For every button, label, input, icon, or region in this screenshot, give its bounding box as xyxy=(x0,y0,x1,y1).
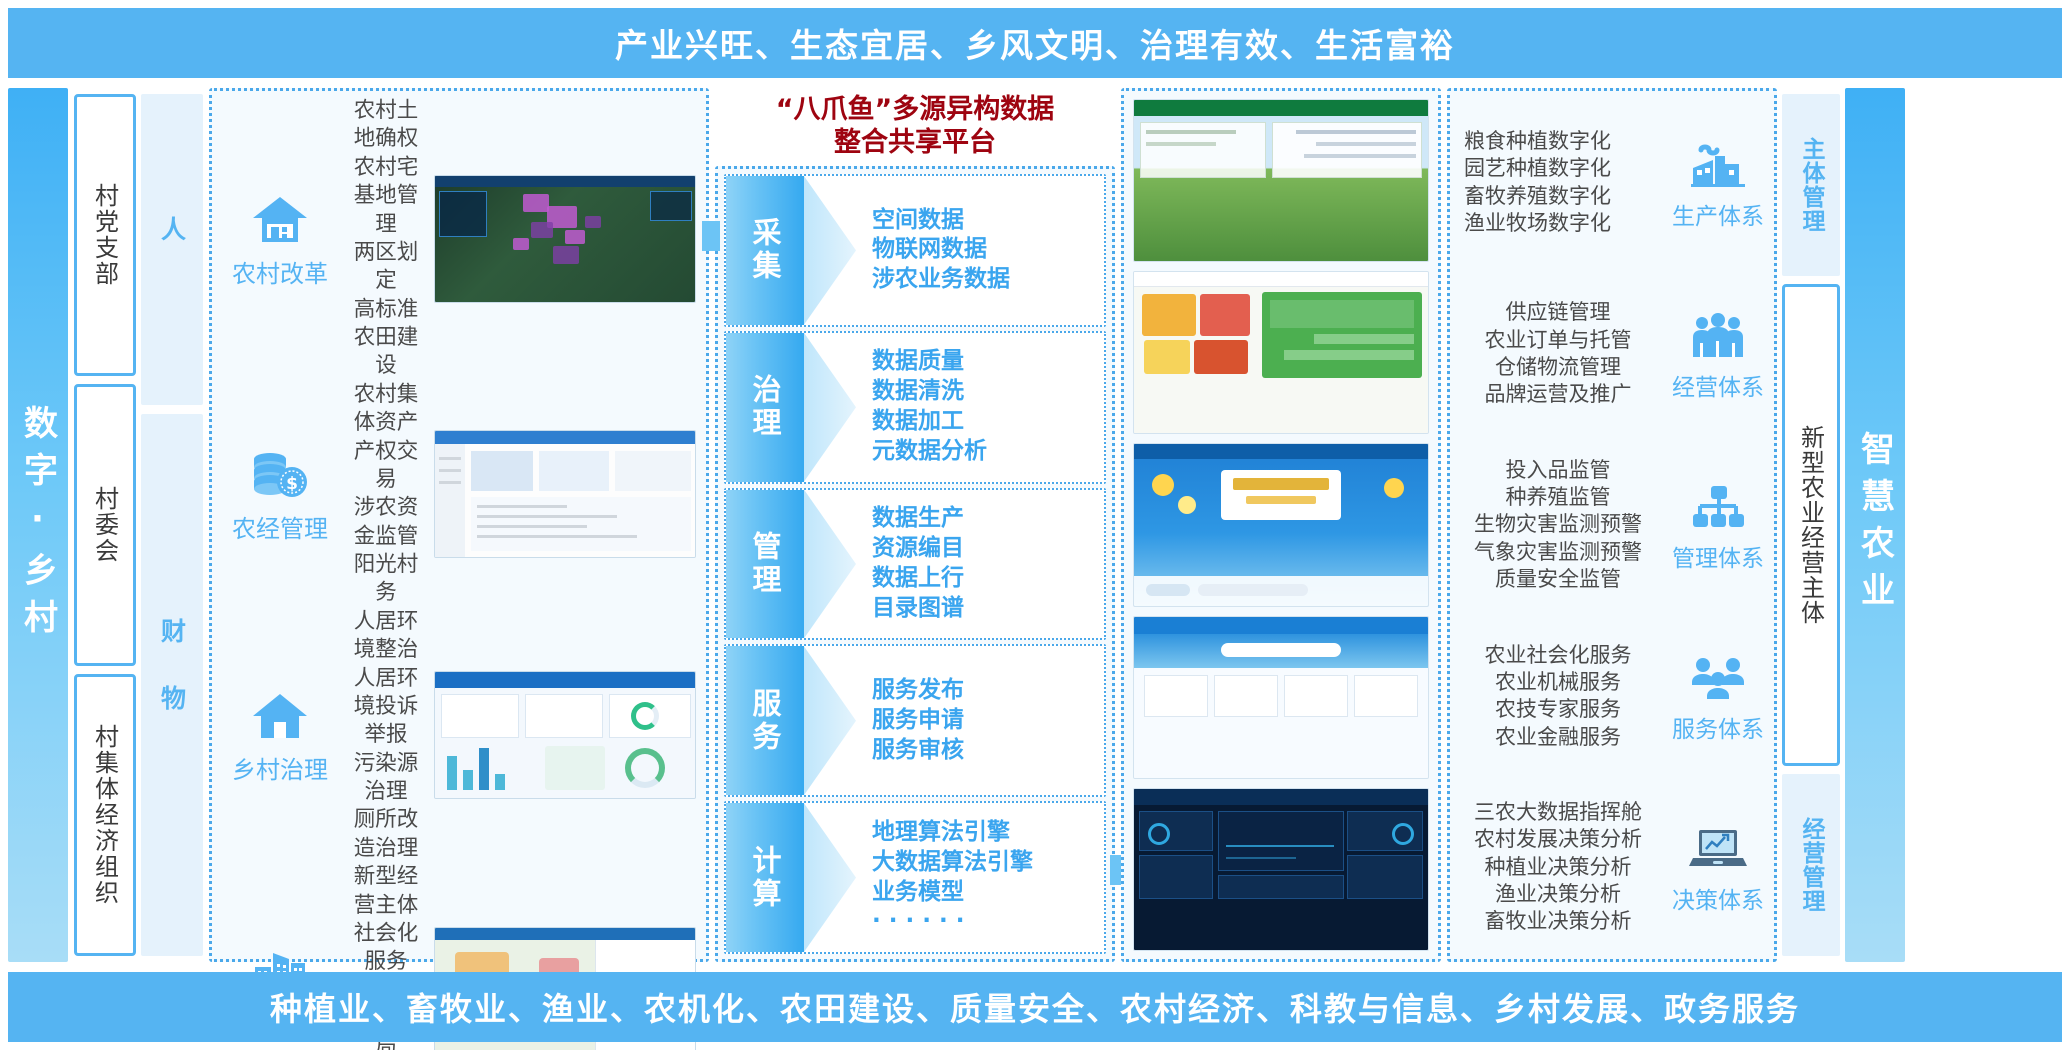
stage-arrow-icon xyxy=(804,176,856,325)
stage-label-text: 采集 xyxy=(744,217,786,283)
system-row[interactable]: 三农大数据指挥舱 农村发展决策分析 种植业决策分析 渔业决策分析 畜牧业决策分析… xyxy=(1454,782,1770,953)
system-name: 生产体系 xyxy=(1666,197,1770,231)
octopus-stage-collect[interactable]: 采集 空间数据 物联网数据 涉农业务数据 xyxy=(724,174,1106,327)
three-people-icon xyxy=(1666,648,1770,708)
resource-item-finance-assets: 财物 xyxy=(141,414,203,956)
coins-dollar-icon: $ xyxy=(222,444,338,506)
octopus-title-line2: 整合共享平台 xyxy=(834,127,996,160)
module-name: 农经管理 xyxy=(222,509,338,544)
system-desc: 供应链管理 农业订单与托管 仓储物流管理 品牌运营及推广 xyxy=(1454,299,1662,408)
octopus-panel: 采集 空间数据 物联网数据 涉农业务数据 治理 数据质量 数据清洗 数据加工 元… xyxy=(715,166,1115,962)
module-name: 乡村治理 xyxy=(222,750,338,785)
mgmt-item-new-agri-operators[interactable]: 新型农业经营主体 xyxy=(1782,284,1840,767)
mgmt-item-label: 经营管理 xyxy=(1794,817,1828,913)
smart-agriculture-rail: 智慧农业 xyxy=(1845,88,1905,962)
resource-column: 人 财物 xyxy=(141,88,203,962)
gallery-screenshot-service-platform-portal[interactable] xyxy=(1133,616,1429,779)
org-item-label: 村委会 xyxy=(88,486,123,564)
system-row[interactable]: 粮食种植数字化 园艺种植数字化 畜牧养殖数字化 渔业牧场数字化 生产体系 xyxy=(1454,97,1770,268)
digital-village-rail: 数字·乡村 xyxy=(8,88,68,962)
stage-label-text: 计算 xyxy=(744,845,786,911)
house-roof-icon xyxy=(222,189,338,251)
octopus-title: “八爪鱼”多源异构数据 整合共享平台 xyxy=(715,88,1115,166)
module-screenshot-asset-admin-console[interactable] xyxy=(434,430,696,558)
stage-label: 采集 xyxy=(726,176,804,325)
org-item-party-branch[interactable]: 村党支部 xyxy=(74,94,136,376)
octopus-title-line1: “八爪鱼”多源异构数据 xyxy=(776,94,1055,127)
module-name: 农村改革 xyxy=(222,254,338,289)
octopus-column: “八爪鱼”多源异构数据 整合共享平台 采集 空间数据 物联网数据 涉农业务数据 … xyxy=(715,88,1115,962)
module-icon-block: 农村改革 xyxy=(222,189,338,289)
stage-label-text: 服务 xyxy=(744,688,786,754)
org-item-label: 村集体经济组织 xyxy=(88,724,123,906)
mgmt-item-business-management: 经营管理 xyxy=(1782,774,1840,956)
system-desc: 投入品监管 种养殖监管 生物灾害监测预警 气象灾害监测预警 质量安全监管 xyxy=(1454,457,1662,593)
stage-items: 服务发布 服务申请 服务审核 xyxy=(856,646,1104,795)
system-row[interactable]: 农业社会化服务 农业机械服务 农技专家服务 农业金融服务 服务体系 xyxy=(1454,611,1770,782)
module-icon-block: $ 农经管理 xyxy=(222,444,338,544)
system-desc: 三农大数据指挥舱 农村发展决策分析 种植业决策分析 渔业决策分析 畜牧业决策分析 xyxy=(1454,799,1662,935)
system-icon-block: 经营体系 xyxy=(1666,306,1770,402)
management-column: 主体管理 新型农业经营主体 经营管理 xyxy=(1782,88,1840,962)
bottom-banner: 种植业、畜牧业、渔业、农机化、农田建设、质量安全、农村经济、科教与信息、乡村发展… xyxy=(8,972,2062,1042)
home-solid-icon xyxy=(222,685,338,747)
system-icon-block: 服务体系 xyxy=(1666,648,1770,744)
module-screenshot-satellite-parcel-map[interactable] xyxy=(434,175,696,303)
stage-label: 计算 xyxy=(726,803,804,952)
system-name: 经营体系 xyxy=(1666,368,1770,402)
org-chart-icon xyxy=(1666,477,1770,537)
stage-arrow-icon xyxy=(804,646,856,795)
org-item-collective-economy[interactable]: 村集体经济组织 xyxy=(74,674,136,956)
mgmt-item-subject-management: 主体管理 xyxy=(1782,94,1840,276)
mgmt-item-label: 主体管理 xyxy=(1794,137,1828,233)
module-desc: 人居环境整治 人居环境投诉举报 污染源治理 厕所改造治理 xyxy=(346,608,426,863)
system-icon-block: 管理体系 xyxy=(1666,477,1770,573)
octopus-stage-service[interactable]: 服务 服务发布 服务申请 服务审核 xyxy=(724,644,1106,797)
module-row[interactable]: $ 农经管理 农村集体资产 产权交易 涉农资金监管 阳光村务 xyxy=(222,381,696,608)
system-name: 决策体系 xyxy=(1666,881,1770,915)
stage-label-text: 治理 xyxy=(744,374,786,440)
factory-icon xyxy=(1666,135,1770,195)
org-column: 村党支部 村委会 村集体经济组织 xyxy=(74,88,136,962)
laptop-chart-icon xyxy=(1666,819,1770,879)
module-icon-block: 乡村治理 xyxy=(222,685,338,785)
system-icon-block: 决策体系 xyxy=(1666,819,1770,915)
bottom-banner-text: 种植业、畜牧业、渔业、农机化、农田建设、质量安全、农村经济、科教与信息、乡村发展… xyxy=(270,984,1800,1030)
resource-item-people: 人 xyxy=(141,94,203,405)
top-banner-text: 产业兴旺、生态宜居、乡风文明、治理有效、生活富裕 xyxy=(615,19,1455,67)
org-item-village-committee[interactable]: 村委会 xyxy=(74,384,136,666)
system-row[interactable]: 投入品监管 种养殖监管 生物灾害监测预警 气象灾害监测预警 质量安全监管 管理体… xyxy=(1454,439,1770,610)
stage-items: 地理算法引擎 大数据算法引擎 业务模型 · · · · · · xyxy=(856,803,1104,952)
stage-label: 治理 xyxy=(726,333,804,482)
system-name: 管理体系 xyxy=(1666,539,1770,573)
connector-left xyxy=(702,221,720,251)
people-group-icon xyxy=(1666,306,1770,366)
system-icon-block: 生产体系 xyxy=(1666,135,1770,231)
module-row[interactable]: 农村改革 农村土地确权 农村宅基地管理 两区划定 高标准农田建设 xyxy=(222,97,696,381)
stage-arrow-icon xyxy=(804,333,856,482)
stage-items: 数据生产 资源编目 数据上行 目录图谱 xyxy=(856,490,1104,639)
smart-agriculture-rail-label: 智慧农业 xyxy=(1851,431,1900,619)
octopus-stage-governance[interactable]: 治理 数据质量 数据清洗 数据加工 元数据分析 xyxy=(724,331,1106,484)
org-item-label: 村党支部 xyxy=(88,183,123,287)
stage-arrow-icon xyxy=(804,490,856,639)
svg-text:$: $ xyxy=(286,474,298,494)
resource-item-label: 人 xyxy=(160,216,185,283)
modules-panel: 农村改革 农村土地确权 农村宅基地管理 两区划定 高标准农田建设 xyxy=(209,88,709,962)
octopus-stage-compute[interactable]: 计算 地理算法引擎 大数据算法引擎 业务模型 · · · · · · xyxy=(724,801,1106,954)
gallery-screenshot-food-safety-campaign[interactable] xyxy=(1133,443,1429,606)
main-stage: 数字·乡村 村党支部 村委会 村集体经济组织 人 财物 农村改革 xyxy=(8,88,2062,962)
mgmt-item-label: 新型农业经营主体 xyxy=(1794,425,1829,625)
module-screenshot-governance-dashboard[interactable] xyxy=(434,671,696,799)
top-banner: 产业兴旺、生态宜居、乡风文明、治理有效、生活富裕 xyxy=(8,8,2062,78)
system-desc: 粮食种植数字化 园艺种植数字化 畜牧养殖数字化 渔业牧场数字化 xyxy=(1454,128,1662,237)
stage-items: 数据质量 数据清洗 数据加工 元数据分析 xyxy=(856,333,1104,482)
gallery-screenshot-big-data-dark-dashboard[interactable] xyxy=(1133,788,1429,951)
octopus-stage-management[interactable]: 管理 数据生产 资源编目 数据上行 目录图谱 xyxy=(724,488,1106,641)
stage-label-text: 管理 xyxy=(744,531,786,597)
stage-label: 服务 xyxy=(726,646,804,795)
gallery-screenshot-farm-digital-portal[interactable] xyxy=(1133,99,1429,262)
resource-item-label: 财物 xyxy=(160,618,185,752)
module-desc: 农村土地确权 农村宅基地管理 两区划定 高标准农田建设 xyxy=(346,97,426,381)
module-desc: 农村集体资产 产权交易 涉农资金监管 阳光村务 xyxy=(346,381,426,608)
gallery-panel xyxy=(1121,88,1441,962)
system-desc: 农业社会化服务 农业机械服务 农技专家服务 农业金融服务 xyxy=(1454,642,1662,751)
systems-panel: 粮食种植数字化 园艺种植数字化 畜牧养殖数字化 渔业牧场数字化 生产体系 供应链… xyxy=(1447,88,1777,962)
digital-village-rail-label: 数字·乡村 xyxy=(14,405,63,646)
system-row[interactable]: 供应链管理 农业订单与托管 仓储物流管理 品牌运营及推广 经营体系 xyxy=(1454,268,1770,439)
gallery-screenshot-produce-ecommerce-page[interactable] xyxy=(1133,271,1429,434)
module-row[interactable]: 乡村治理 人居环境整治 人居环境投诉举报 污染源治理 厕所改造治理 xyxy=(222,608,696,863)
stage-items: 空间数据 物联网数据 涉农业务数据 xyxy=(856,176,1104,325)
stage-label: 管理 xyxy=(726,490,804,639)
system-name: 服务体系 xyxy=(1666,710,1770,744)
stage-arrow-icon xyxy=(804,803,856,952)
